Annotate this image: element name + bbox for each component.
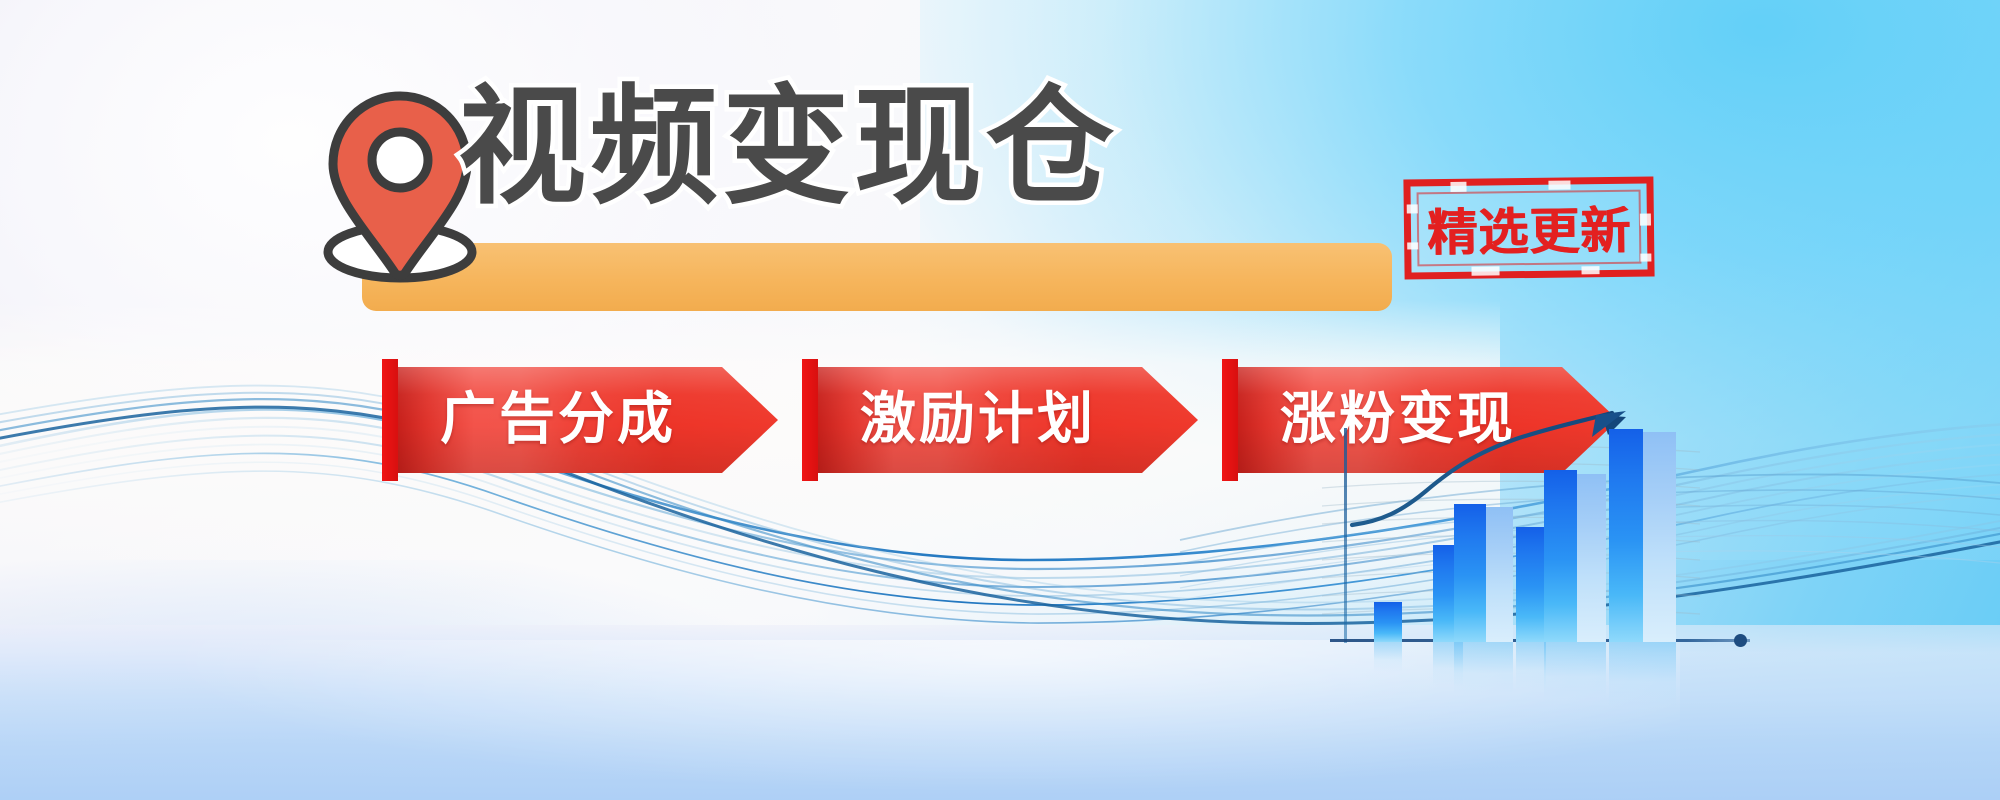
stamp-label: 精选更新: [1410, 184, 1647, 273]
stamp-distress-fleck: [1640, 214, 1651, 226]
page-title: 视频变现仓: [458, 84, 1118, 212]
ribbon-incentive-plan[interactable]: 激励计划: [802, 367, 1198, 473]
ribbon-body: 激励计划: [818, 367, 1198, 473]
stamp-distress-fleck: [1640, 254, 1651, 262]
stamp-distress-fleck: [1471, 266, 1499, 275]
promo-banner: 视频变现仓 精选更新 广告分成 激励计划 涨粉变现: [0, 0, 2000, 800]
bar-reflection: [1374, 642, 1402, 672]
stamp-distress-fleck: [1581, 266, 1599, 274]
ribbon-tab: [802, 359, 818, 481]
chart-bar: [1374, 602, 1402, 642]
chart-bar: [1642, 432, 1676, 642]
bar-reflection: [1454, 642, 1513, 694]
bar-reflection: [1544, 642, 1606, 700]
stamp-distress-fleck: [1407, 242, 1418, 249]
stamp-distress-fleck: [1407, 204, 1418, 213]
ribbon-ad-revenue[interactable]: 广告分成: [382, 367, 778, 473]
ribbon-tab: [382, 359, 398, 481]
ribbon-label: 激励计划: [860, 392, 1096, 448]
chart-bar: [1544, 470, 1577, 642]
ribbon-label: 广告分成: [440, 392, 676, 448]
chart-reflection: [1330, 642, 1750, 722]
bar-reflection: [1609, 642, 1676, 708]
status-badge-stamp: 精选更新: [1403, 176, 1654, 279]
chart-bar: [1454, 504, 1486, 642]
stamp-distress-fleck: [1548, 180, 1570, 189]
ribbon-body: 广告分成: [398, 367, 778, 473]
chart-bar: [1516, 527, 1546, 642]
stamp-distress-fleck: [1450, 182, 1466, 192]
title-highlight-bar: [362, 243, 1392, 311]
ribbon-tab: [1222, 359, 1238, 481]
chart-bar: [1609, 429, 1643, 642]
bar-reflection: [1516, 642, 1546, 690]
chart-bar: [1573, 474, 1606, 642]
